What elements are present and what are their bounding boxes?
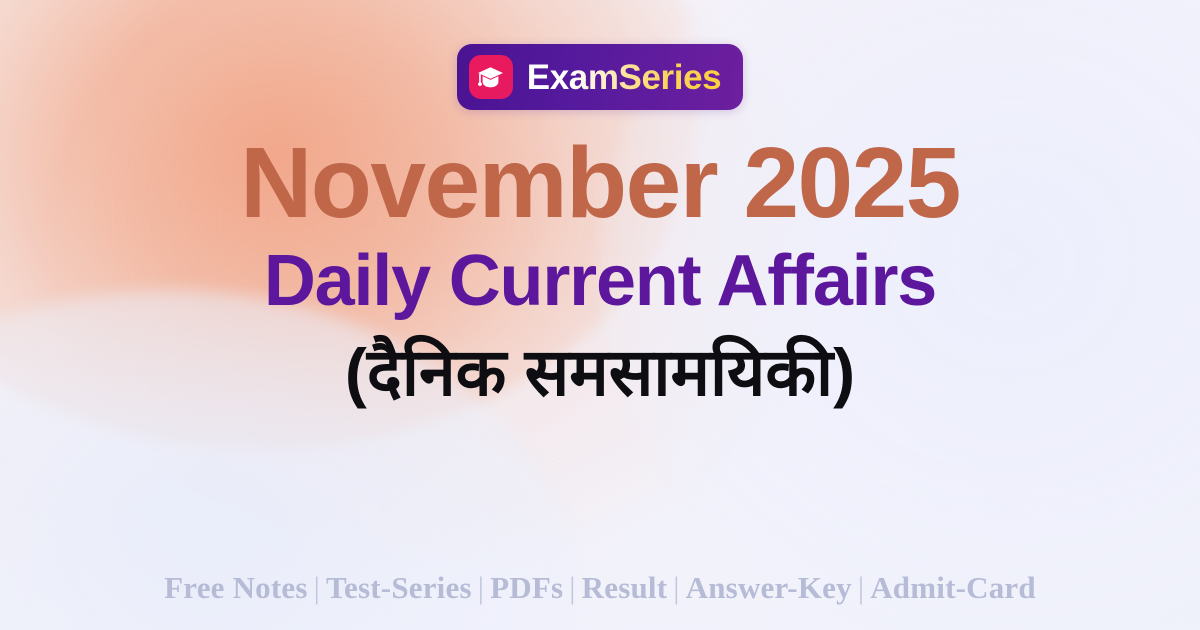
footer-link-admit-card[interactable]: Admit-Card (870, 570, 1036, 605)
footer-separator: | (667, 570, 685, 605)
footer-link-result[interactable]: Result (582, 570, 668, 605)
footer-links: Free Notes|Test-Series|PDFs|Result|Answe… (0, 570, 1200, 606)
footer-link-answer-key[interactable]: Answer-Key (686, 570, 852, 605)
footer-separator: | (852, 570, 870, 605)
headline-title: Daily Current Affairs (264, 244, 936, 320)
footer-link-pdfs[interactable]: PDFs (490, 570, 563, 605)
promo-banner: ExamSeries November 2025 Daily Current A… (0, 0, 1200, 630)
footer-separator: | (563, 570, 581, 605)
headline-month: November 2025 (240, 132, 960, 234)
footer-separator: | (472, 570, 490, 605)
banner-content: ExamSeries November 2025 Daily Current A… (0, 0, 1200, 630)
brand-name: ExamSeries (527, 60, 721, 95)
footer-link-free-notes[interactable]: Free Notes (164, 570, 307, 605)
graduation-cap-icon (469, 55, 513, 99)
brand-badge[interactable]: ExamSeries (457, 44, 743, 110)
headline-subtitle-hindi: (दैनिक समसामयिकी) (345, 334, 855, 411)
footer-separator: | (308, 570, 326, 605)
footer-link-test-series[interactable]: Test-Series (326, 570, 472, 605)
